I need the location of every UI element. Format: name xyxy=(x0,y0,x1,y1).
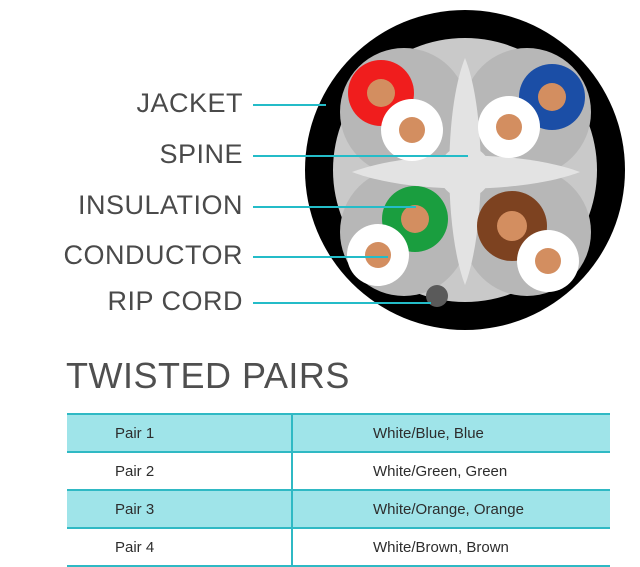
white-wire-conductor xyxy=(535,248,561,274)
callout-label-insulation: INSULATION xyxy=(78,192,243,219)
cell-pair-name: Pair 3 xyxy=(67,490,292,528)
white-wire-conductor xyxy=(365,242,391,268)
white-wire-conductor xyxy=(496,114,522,140)
cable-cross-section-illustration xyxy=(0,0,640,350)
callout-label-rip-cord: RIP CORD xyxy=(107,288,243,315)
leader-line-spine xyxy=(253,155,468,157)
twisted-pairs-table: Pair 1 White/Blue, Blue Pair 2 White/Gre… xyxy=(67,413,610,567)
callout-label-spine: SPINE xyxy=(159,141,243,168)
cell-pair-colors: White/Brown, Brown xyxy=(292,528,610,566)
section-heading-twisted-pairs: TWISTED PAIRS xyxy=(66,358,350,394)
callout-label-conductor: CONDUCTOR xyxy=(64,242,244,269)
leader-line-jacket xyxy=(253,104,326,106)
table-row: Pair 1 White/Blue, Blue xyxy=(67,414,610,452)
brown-wire-conductor xyxy=(497,211,527,241)
red-wire-conductor xyxy=(367,79,395,107)
cell-pair-name: Pair 1 xyxy=(67,414,292,452)
table-row: Pair 4 White/Brown, Brown xyxy=(67,528,610,566)
cell-pair-colors: White/Green, Green xyxy=(292,452,610,490)
cell-pair-name: Pair 2 xyxy=(67,452,292,490)
table-row: Pair 2 White/Green, Green xyxy=(67,452,610,490)
cell-pair-colors: White/Blue, Blue xyxy=(292,414,610,452)
table-row: Pair 3 White/Orange, Orange xyxy=(67,490,610,528)
diagram-canvas: JACKET SPINE INSULATION CONDUCTOR RIP CO… xyxy=(0,0,640,563)
leader-line-conductor xyxy=(253,256,388,258)
cell-pair-name: Pair 4 xyxy=(67,528,292,566)
leader-line-insulation xyxy=(253,206,416,208)
white-wire-conductor xyxy=(399,117,425,143)
leader-line-ripcord xyxy=(253,302,431,304)
cell-pair-colors: White/Orange, Orange xyxy=(292,490,610,528)
callout-label-jacket: JACKET xyxy=(136,90,243,117)
green-wire-conductor xyxy=(401,205,429,233)
blue-wire-conductor xyxy=(538,83,566,111)
